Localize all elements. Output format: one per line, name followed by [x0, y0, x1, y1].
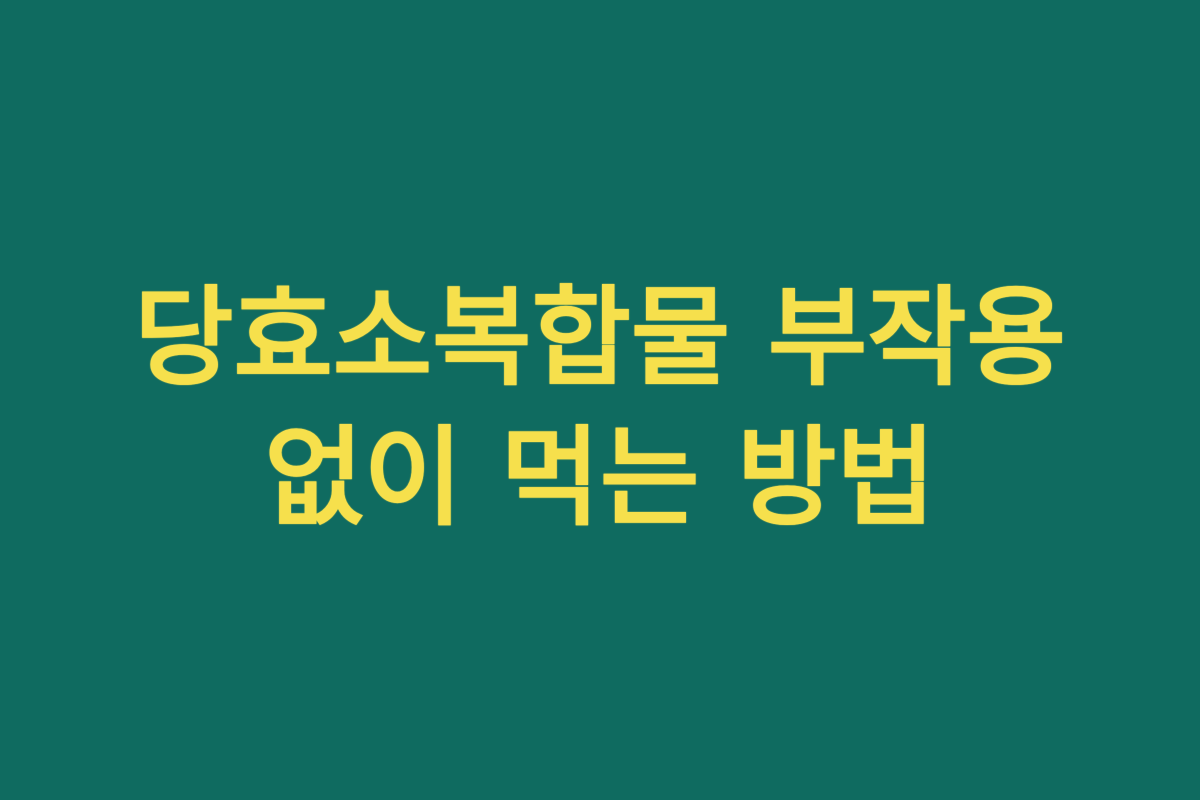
- page-title: 당효소복합물 부작용 없이 먹는 방법: [85, 269, 1115, 549]
- banner-canvas: 당효소복합물 부작용 없이 먹는 방법: [0, 0, 1200, 800]
